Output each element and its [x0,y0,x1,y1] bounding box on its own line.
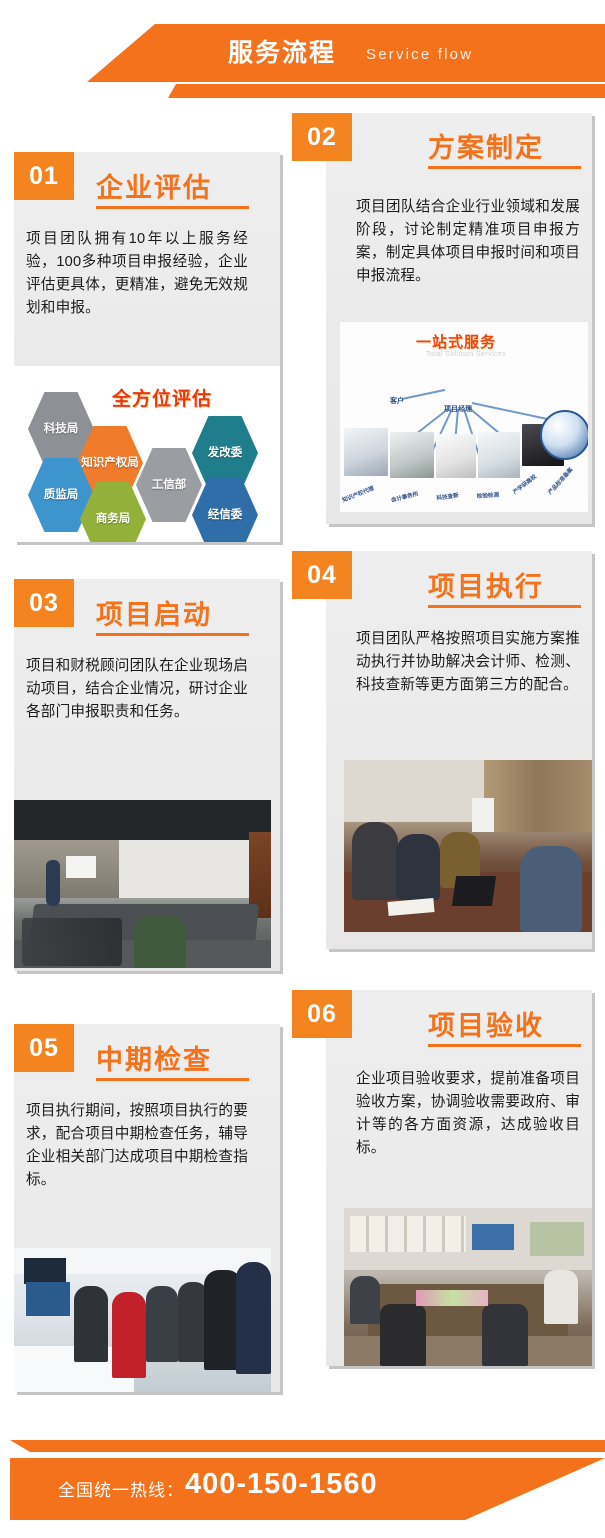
page-header: 服务流程 Service flow [0,0,605,112]
step-badge-04: 04 [292,551,352,599]
photo-06-attendee-right [544,1270,578,1324]
step-title-04: 项目执行 [428,565,544,604]
one-stop-client-label: 客户 [390,396,404,406]
service-label-novelty: 科技查新 [436,491,459,502]
service-thumb-ip [344,428,388,476]
step-badge-03: 03 [14,579,74,627]
photo-05-monitor-left [24,1258,66,1284]
service-label-ip: 知识产权代理 [341,484,375,504]
hexagon-node-gongxinbu: 工信部 [136,448,202,522]
hotline-label: 全国统一热线： [58,1476,184,1501]
step-badge-01: 01 [14,152,74,200]
step-photo-06 [344,1208,592,1366]
step-body-02: 项目团队结合企业行业领域和发展阶段，讨论制定精准项目申报方案，制定具体项目申报时… [356,196,580,288]
one-stop-service-title: 一站式服务 [416,331,496,352]
step-body-04: 项目团队严格按照项目实施方案推动执行并协助解决会计师、检测、科技查新等更方面第三… [356,628,580,697]
service-arrow-client [402,389,445,400]
hexagon-node-jingxinwei: 经信委 [192,478,258,542]
step-photo-03 [14,800,271,968]
step-title-01: 企业评估 [96,166,212,205]
footer-orange-stripe [10,1440,605,1452]
step-photo-04 [344,760,592,932]
step-title-02: 方案制定 [428,126,544,165]
photo-04-person-right [520,846,582,932]
photo-03-ceiling [14,800,271,840]
one-stop-center-photo [424,358,500,394]
one-stop-center-label: 项目经理 [444,404,472,414]
step-title-rule-06 [428,1044,581,1047]
hotline-number[interactable]: 400-150-1560 [185,1468,378,1501]
photo-04-laptop [452,876,496,906]
page-title: 服务流程 [228,36,336,70]
step-title-rule-01 [96,206,249,209]
photo-03-chair-row [22,918,122,966]
photo-04-ac-unit [472,798,494,832]
step-photo-05 [14,1248,271,1392]
photo-06-chair-fore-left [380,1304,426,1366]
service-label-standard: 产品标准备案 [546,466,574,496]
step-title-05: 中期检查 [96,1038,212,1077]
step-graphic-02-one-stop-service-diagram: 一站式服务 Total Solution Services 客户 项目经理 知识… [340,322,588,512]
photo-05-person-f [236,1262,271,1374]
service-thumb-testing [478,432,520,478]
photo-04-curtain [484,760,592,832]
photo-06-attendee-left [350,1276,380,1324]
step-body-01: 项目团队拥有10年以上服务经验，100多种项目申报经验，企业评估更具体，更精准，… [26,228,248,320]
step-badge-06: 06 [292,990,352,1038]
hexagon-diagram-title: 全方位评估 [112,384,212,411]
step-body-03: 项目和财税顾问团队在企业现场启动项目，结合企业情况，研讨企业各部门申报职责和任务… [26,655,248,724]
photo-06-chair-fore-mid [482,1304,528,1366]
service-label-accounting: 会计事务所 [390,489,419,504]
step-title-03: 项目启动 [96,593,212,632]
service-thumb-novelty [436,434,476,478]
photo-06-flowers [416,1290,488,1306]
step-title-rule-03 [96,633,249,636]
photo-06-certificate-grid [350,1216,466,1252]
page-subtitle: Service flow [366,44,473,66]
step-graphic-01-hexagon-diagram: 全方位评估 科技局 知识产权局 发改委 质监局 工信部 商务局 经信委 [14,366,280,542]
photo-04-person-left [352,822,398,900]
photo-05-person-dark [74,1286,108,1362]
step-body-05: 项目执行期间，按照项目执行的要求，配合项目中期检查任务，辅导企业相关部门达成项目… [26,1100,248,1192]
step-badge-02: 02 [292,113,352,161]
photo-05-person-c [146,1286,178,1362]
service-thumb-accounting [390,432,434,478]
step-body-06: 企业项目验收要求，提前准备项目验收方案，协调验收需要政府、审计等的各方面资源，达… [356,1068,580,1160]
photo-03-whiteboard [66,856,96,878]
photo-06-green-board [530,1222,584,1256]
photo-04-person-left2 [396,834,440,900]
photo-03-wall-white [119,840,249,898]
photo-03-person-jacket [134,916,186,968]
step-title-rule-02 [428,166,581,169]
photo-03-person-standing [46,860,60,906]
step-title-rule-05 [96,1078,249,1081]
photo-06-projector-screen [472,1224,514,1250]
step-title-rule-04 [428,605,581,608]
header-orange-stripe [0,84,605,98]
step-badge-05: 05 [14,1024,74,1072]
page-footer: 全国统一热线： 400-150-1560 [0,1400,605,1538]
photo-05-monitor-main [26,1282,70,1316]
one-stop-service-subtitle: Total Solution Services [426,351,506,358]
photo-05-person-red-coat [112,1292,146,1378]
step-title-06: 项目验收 [428,1004,544,1043]
service-label-testing: 检验检测 [476,490,499,500]
service-thumb-standard-seal [540,410,588,460]
